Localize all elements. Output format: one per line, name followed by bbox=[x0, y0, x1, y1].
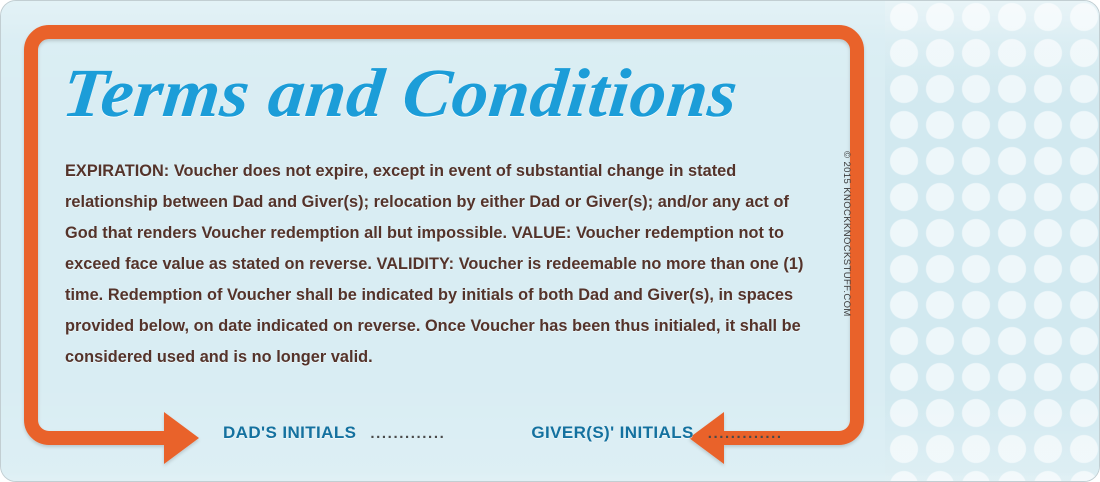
page-title: Terms and Conditions bbox=[59, 59, 872, 128]
dads-initials-field[interactable]: DAD'S INITIALS ............. bbox=[223, 423, 445, 443]
dads-initials-line[interactable]: ............. bbox=[370, 425, 445, 442]
givers-initials-line[interactable]: ............. bbox=[708, 425, 783, 442]
card-content: Terms and Conditions EXPIRATION: Voucher… bbox=[63, 59, 823, 373]
arrow-right-icon bbox=[121, 412, 199, 464]
dads-initials-label: DAD'S INITIALS bbox=[223, 423, 356, 443]
initials-row: DAD'S INITIALS ............. GIVER(S)' I… bbox=[223, 423, 783, 443]
terms-body-text: EXPIRATION: Voucher does not expire, exc… bbox=[65, 156, 821, 373]
copyright-notice: © 2015 KNOCKKNOCKSTUFF.COM bbox=[841, 151, 852, 317]
voucher-terms-card: Terms and Conditions EXPIRATION: Voucher… bbox=[0, 0, 1100, 482]
givers-initials-label: GIVER(S)' INITIALS bbox=[531, 423, 693, 443]
givers-initials-field[interactable]: GIVER(S)' INITIALS ............. bbox=[531, 423, 782, 443]
